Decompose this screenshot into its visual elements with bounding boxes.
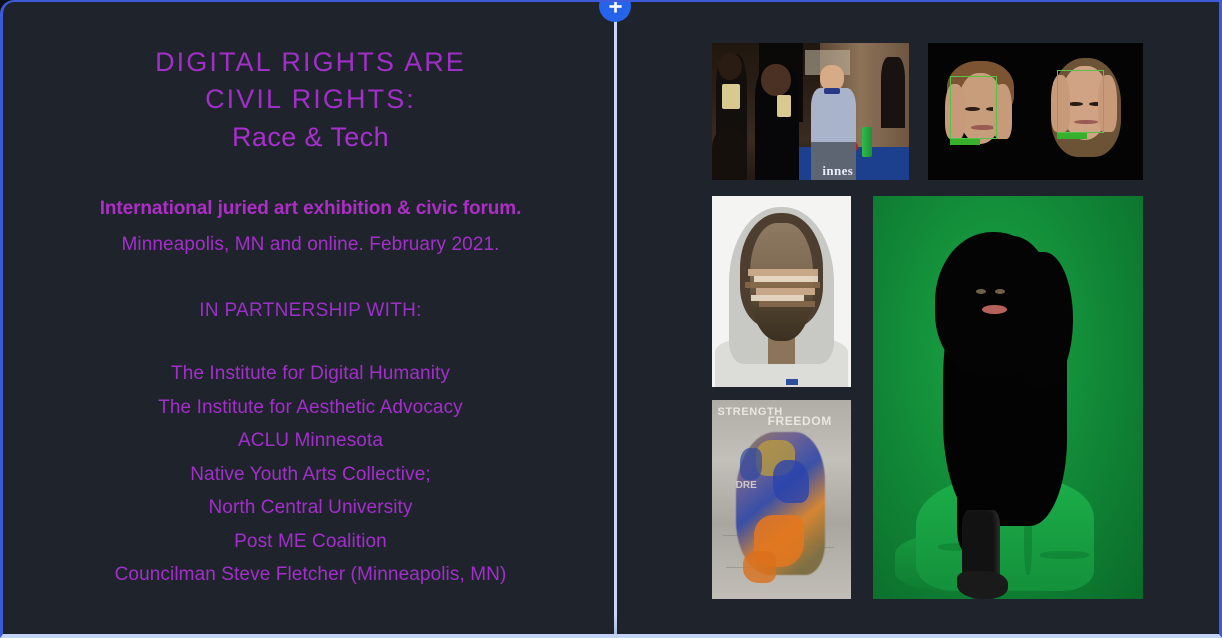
column-divider[interactable] xyxy=(614,2,617,638)
facial-recognition-photo[interactable] xyxy=(928,43,1143,180)
painting-text-freedom: FREEDOM xyxy=(768,414,832,428)
list-item: ACLU Minnesota xyxy=(33,424,588,458)
list-item: Post ME Coalition xyxy=(33,525,588,559)
glitched-hoodie-portrait[interactable] xyxy=(712,196,851,387)
painting-blue-mass-1 xyxy=(773,460,809,504)
list-item: Native Youth Arts Collective; xyxy=(33,458,588,492)
slide-canvas[interactable]: DIGITAL RIGHTS ARE CIVIL RIGHTS: Race & … xyxy=(0,0,1222,638)
photo-badge-center xyxy=(777,95,791,117)
green-screen-portrait[interactable] xyxy=(873,196,1143,599)
painting-text-dre: DRE xyxy=(736,480,757,491)
figure-lips xyxy=(982,305,1006,314)
photo-badge-left xyxy=(722,84,740,109)
photo-person-left-head xyxy=(718,53,742,80)
detection-label-right xyxy=(1057,133,1087,139)
detection-box-left xyxy=(950,76,997,139)
detection-box-right xyxy=(1057,70,1104,133)
list-item: Councilman Steve Fletcher (Minneapolis, … xyxy=(33,558,588,592)
figure-eye-1 xyxy=(976,289,987,294)
cowboy-boot-toe xyxy=(957,571,1008,599)
photo-green-bottle xyxy=(862,127,872,157)
photo-man-head xyxy=(820,65,844,91)
skirt-fold-3 xyxy=(1040,551,1089,559)
glitch-smear-6 xyxy=(759,301,815,307)
portrait-collar-detail xyxy=(786,379,799,385)
image-column[interactable]: innes xyxy=(620,2,1222,638)
list-item: The Institute for Aesthetic Advocacy xyxy=(33,391,588,425)
partner-list: The Institute for Digital Humanity The I… xyxy=(33,357,588,592)
glitch-smear-1 xyxy=(748,269,818,277)
list-item: North Central University xyxy=(33,491,588,525)
figure-eye-2 xyxy=(995,289,1006,294)
abstract-mixed-media-painting[interactable]: DRE STRENGTH FREEDOM xyxy=(712,400,851,599)
text-column[interactable]: DIGITAL RIGHTS ARE CIVIL RIGHTS: Race & … xyxy=(13,2,608,638)
list-item: The Institute for Digital Humanity xyxy=(33,357,588,391)
photo-figure-background xyxy=(881,57,905,128)
slide-title-line-3: Race & Tech xyxy=(33,118,588,156)
painting-blue-mass-2 xyxy=(740,448,762,480)
event-gathering-photo[interactable]: innes xyxy=(712,43,909,180)
location-date-line: Minneapolis, MN and online. February 202… xyxy=(33,232,588,258)
glitch-smear-4 xyxy=(756,288,814,296)
slide-title-line-1: DIGITAL RIGHTS ARE xyxy=(33,44,588,81)
partnership-heading: IN PARTNERSHIP WITH: xyxy=(33,298,588,324)
photo-bow-tie xyxy=(824,88,840,93)
exhibition-subtitle: International juried art exhibition & ci… xyxy=(33,196,588,222)
painting-orange-mass-2 xyxy=(743,551,776,583)
slide-title-line-2: CIVIL RIGHTS: xyxy=(33,81,588,118)
photo-banner-text: innes xyxy=(822,163,853,179)
plus-icon xyxy=(608,0,623,14)
photo-person-foreground xyxy=(712,128,747,180)
detection-label-left xyxy=(950,139,980,145)
photo-person-center-head xyxy=(761,64,791,97)
